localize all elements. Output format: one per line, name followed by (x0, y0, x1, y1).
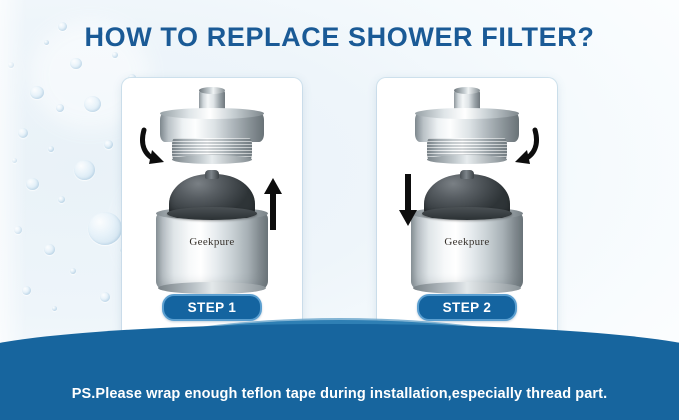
step-card-2[interactable]: Geekpure STEP 2 Install new filter (377, 78, 557, 361)
banner-note-text: PS.Please wrap enough teflon tape during… (0, 386, 679, 402)
rotate-arrow-right-icon (495, 122, 541, 168)
step-card-1[interactable]: Geekpure STEP 1 Take out old filter (122, 78, 302, 361)
brand-label: Geekpure (156, 236, 268, 248)
brand-label: Geekpure (411, 236, 523, 248)
page-title: HOW TO REPLACE SHOWER FILTER? (0, 22, 679, 53)
filter-illustration-2: Geekpure (377, 82, 557, 292)
arrow-up-icon (264, 178, 282, 230)
infographic-poster: HOW TO REPLACE SHOWER FILTER? Geekpure (0, 0, 679, 420)
filter-body-2: Geekpure (411, 174, 523, 290)
step-badge-2: STEP 2 (417, 294, 517, 321)
bottom-banner (0, 324, 679, 420)
arrow-down-icon (399, 174, 417, 226)
rotate-arrow-left-icon (138, 122, 184, 168)
filter-illustration-1: Geekpure (122, 82, 302, 292)
filter-body-1: Geekpure (156, 174, 268, 290)
step-badge-1: STEP 1 (162, 294, 262, 321)
